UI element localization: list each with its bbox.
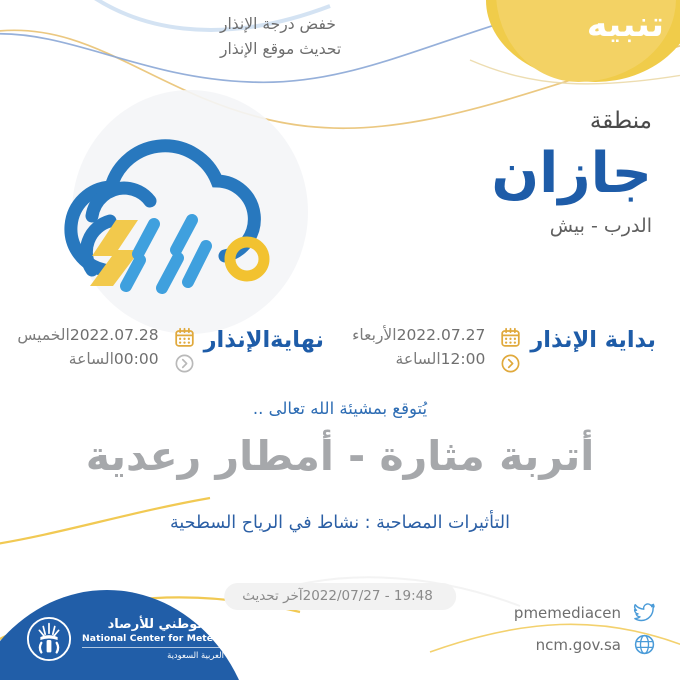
alert-end-time-row: 00:00الساعة <box>17 349 164 370</box>
twitter-contact-row[interactable]: pmemediacen <box>514 601 656 624</box>
last-update-label: آخر تحديث <box>242 588 302 604</box>
alert-start-icons <box>500 325 521 374</box>
calendar-icon <box>174 327 195 348</box>
alert-start-time-value: 12:00 <box>441 349 486 370</box>
region-name: جازان <box>352 142 652 206</box>
contact-links: pmemediacen ncm.gov.sa <box>514 601 656 656</box>
alert-end-icons <box>174 325 195 374</box>
alert-start-day-label: الأربعاء <box>352 326 396 344</box>
alert-end-title: نهايةالإنذار <box>204 325 324 354</box>
alert-start-date-row: 2022.07.27الأربعاء <box>352 325 491 346</box>
alert-end-time-label: الساعة <box>69 350 114 368</box>
alert-start-time-row: 12:00الساعة <box>352 349 491 370</box>
twitter-icon[interactable] <box>633 601 656 624</box>
alert-end-values: 2022.07.28الخميس 00:00الساعة <box>17 325 164 370</box>
alert-status-line-2: تحديث موقع الإنذار <box>220 37 480 62</box>
alert-badge-label: تنبيه <box>587 8 664 43</box>
region-block: منطقة جازان الدرب - بيش <box>352 108 652 239</box>
alert-status-line-1: خفض درجة الإنذار <box>220 12 480 37</box>
alert-start-time-label: الساعة <box>396 350 441 368</box>
forecast-block: يُتوقع بمشيئة الله تعالى .. أتربة مثارة … <box>0 398 680 483</box>
forecast-impacts: التأثيرات المصاحبة : نشاط في الرياح السط… <box>0 512 680 536</box>
weather-alert-card: تنبيه خفض درجة الإنذار تحديث موقع الإنذا… <box>0 0 680 680</box>
alert-start-block: بداية الإنذار <box>352 325 656 374</box>
thunderstorm-rain-icon <box>30 108 285 323</box>
last-update-stamp: 2022/07/27 - 19:48 <box>303 588 433 604</box>
alert-start-values: 2022.07.27الأربعاء 12:00الساعة <box>352 325 491 370</box>
alert-start-title: بداية الإنذار <box>530 325 656 354</box>
alert-end-date-value: 2022.07.28 <box>70 325 159 346</box>
clock-chevron-icon <box>174 353 195 374</box>
forecast-headline: أتربة مثارة - أمطار رعدية <box>0 431 680 482</box>
ncm-logo-country: المملكة العربية السعودية <box>82 650 253 661</box>
website-contact-row[interactable]: ncm.gov.sa <box>514 633 656 656</box>
globe-icon[interactable] <box>633 633 656 656</box>
alert-status-lines: خفض درجة الإنذار تحديث موقع الإنذار <box>220 12 480 62</box>
clock-chevron-icon <box>500 353 521 374</box>
calendar-icon <box>500 327 521 348</box>
alert-end-day-label: الخميس <box>17 326 69 344</box>
forecast-intro: يُتوقع بمشيئة الله تعالى .. <box>0 398 680 419</box>
alert-badge: تنبيه <box>486 0 680 82</box>
alert-end-date-row: 2022.07.28الخميس <box>17 325 164 346</box>
region-sublocation: الدرب - بيش <box>352 214 652 239</box>
ncm-logo-arabic: المركز الوطني للأرصاد <box>82 617 253 633</box>
alert-times: بداية الإنذار <box>0 325 680 391</box>
ncm-logo: المركز الوطني للأرصاد National Center fo… <box>26 616 253 662</box>
ncm-emblem-icon <box>26 616 72 662</box>
ncm-logo-text: المركز الوطني للأرصاد National Center fo… <box>82 617 253 661</box>
twitter-handle[interactable]: pmemediacen <box>514 604 621 622</box>
ncm-logo-english: National Center for Meteorology <box>82 633 253 648</box>
website-url[interactable]: ncm.gov.sa <box>536 636 621 654</box>
last-update-pill: 2022/07/27 - 19:48آخر تحديث <box>224 583 456 610</box>
alert-end-block: نهايةالإنذار <box>17 325 324 374</box>
alert-end-time-value: 00:00 <box>114 349 159 370</box>
alert-start-date-value: 2022.07.27 <box>397 325 486 346</box>
region-kicker: منطقة <box>352 108 652 136</box>
